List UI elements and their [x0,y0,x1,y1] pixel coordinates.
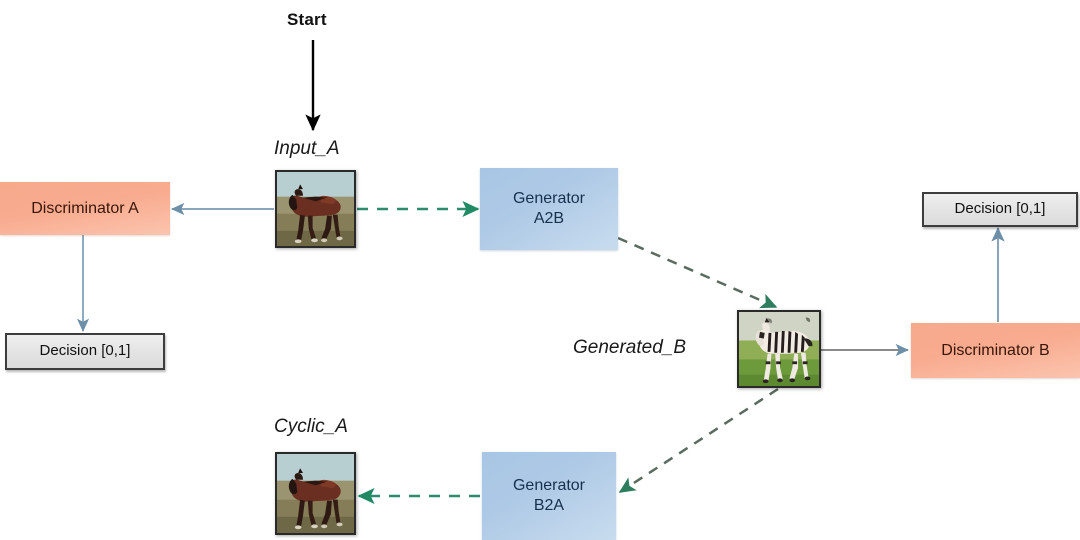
cyclic-a-image[interactable] [275,452,356,535]
input-a-label: Input_A [274,138,340,160]
node-discriminator-b[interactable]: Discriminator B [911,323,1080,378]
node-generator-b2a[interactable]: Generator B2A [482,452,616,540]
edge-generator-a2b-to-generated-b [618,238,776,307]
node-generator-a2b[interactable]: Generator A2B [480,168,618,250]
node-decision-left[interactable]: Decision [0,1] [5,333,165,370]
edge-generated-b-to-generator-b2a [620,389,778,492]
horse-photo [277,454,354,533]
input-a-image[interactable] [275,170,356,248]
cyclic-a-label: Cyclic_A [274,416,348,438]
node-discriminator-a[interactable]: Discriminator A [0,182,170,235]
generated-b-image[interactable] [737,310,821,388]
zebra-photo [739,312,819,386]
node-decision-right[interactable]: Decision [0,1] [922,192,1078,227]
start-label: Start [287,10,327,30]
diagram-canvas: Start Input_A Generated_B Cyclic_A [0,0,1080,540]
horse-photo [277,172,354,246]
generated-b-label: Generated_B [573,337,686,359]
